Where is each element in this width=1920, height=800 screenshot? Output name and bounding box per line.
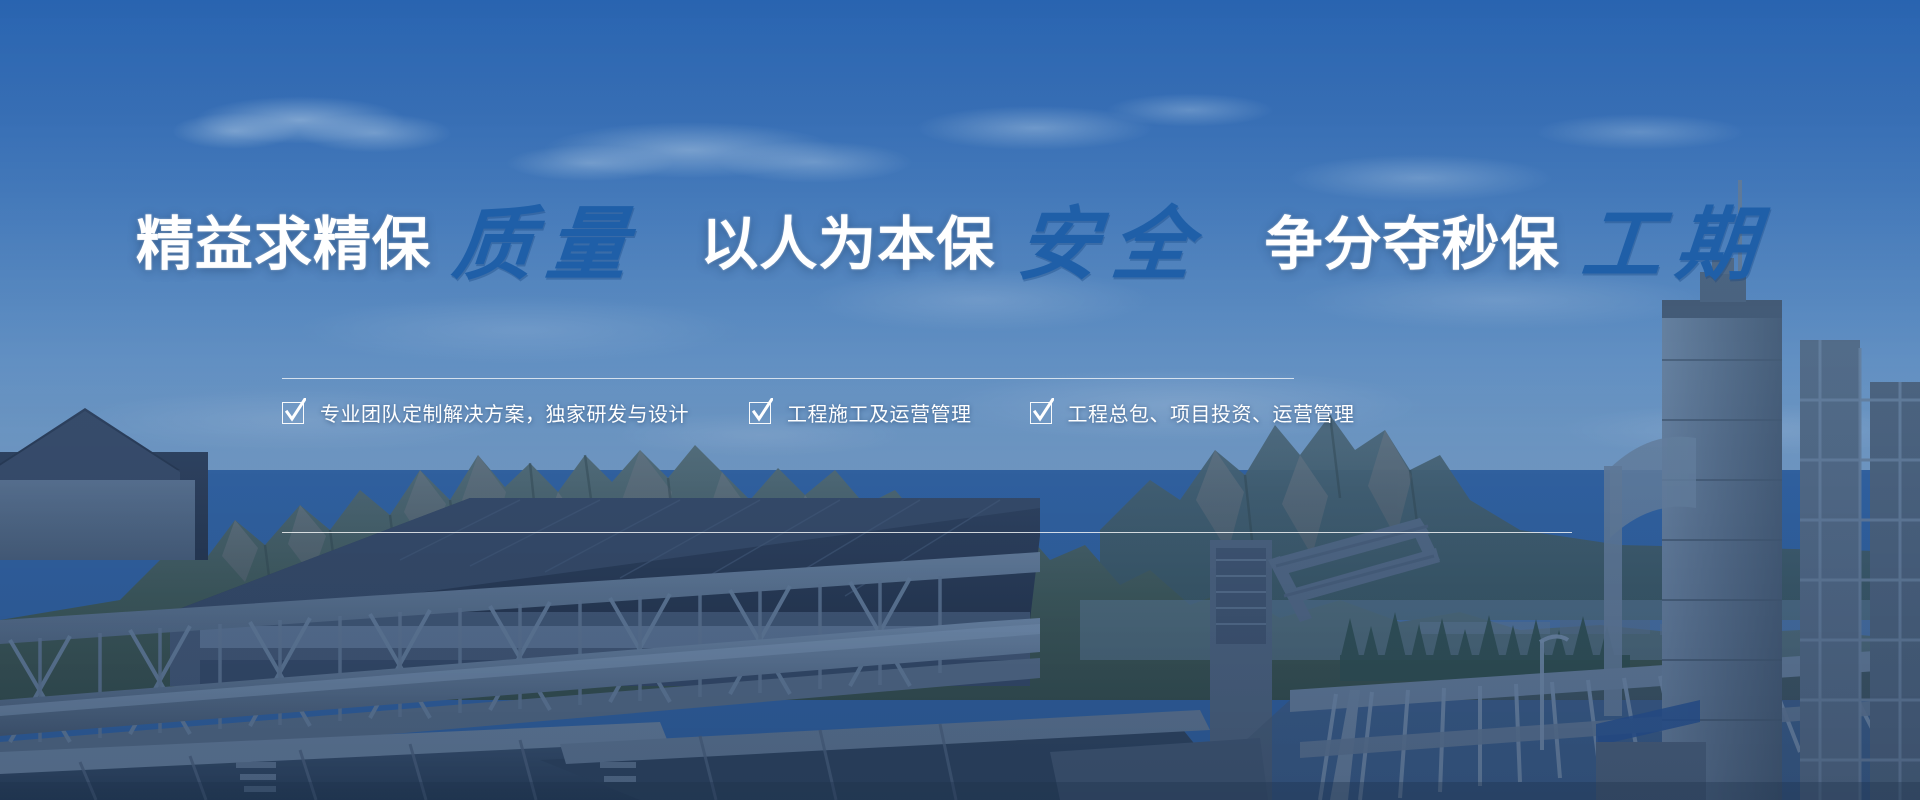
headline-plain-2: 以人为本保: [700, 196, 995, 292]
feature-label-1: 专业团队定制解决方案，独家研发与设计: [320, 398, 689, 427]
divider-bottom: [282, 532, 1572, 533]
feature-label-3: 工程总包、项目投资、运营管理: [1068, 398, 1355, 427]
divider-top: [282, 378, 1294, 379]
checkbox-checked-icon: [749, 402, 771, 424]
headline-plain-3: 争分夺秒保: [1265, 196, 1560, 292]
headline-plain-1: 精益求精保: [136, 196, 431, 292]
checkbox-checked-icon: [1030, 402, 1052, 424]
banner-content: 精益求精保 质量 以人为本保 安全 争分夺秒保 工期 专业团队定制解决方案，独家…: [0, 0, 1920, 800]
feature-label-2: 工程施工及运营管理: [787, 398, 972, 427]
headline-brush-schedule: 工期: [1560, 196, 1788, 292]
headline: 精益求精保 质量 以人为本保 安全 争分夺秒保 工期: [0, 196, 1920, 292]
feature-item-2[interactable]: 工程施工及运营管理: [749, 398, 972, 427]
feature-list: 专业团队定制解决方案，独家研发与设计 工程施工及运营管理 工程总包、项目投资、运…: [282, 398, 1582, 427]
checkbox-checked-icon: [282, 402, 304, 424]
headline-brush-safety: 安全: [996, 196, 1224, 292]
feature-item-3[interactable]: 工程总包、项目投资、运营管理: [1030, 398, 1355, 427]
feature-item-1[interactable]: 专业团队定制解决方案，独家研发与设计: [282, 398, 689, 427]
headline-brush-quality: 质量: [431, 196, 659, 292]
hero-banner: 精益求精保 质量 以人为本保 安全 争分夺秒保 工期 专业团队定制解决方案，独家…: [0, 0, 1920, 800]
